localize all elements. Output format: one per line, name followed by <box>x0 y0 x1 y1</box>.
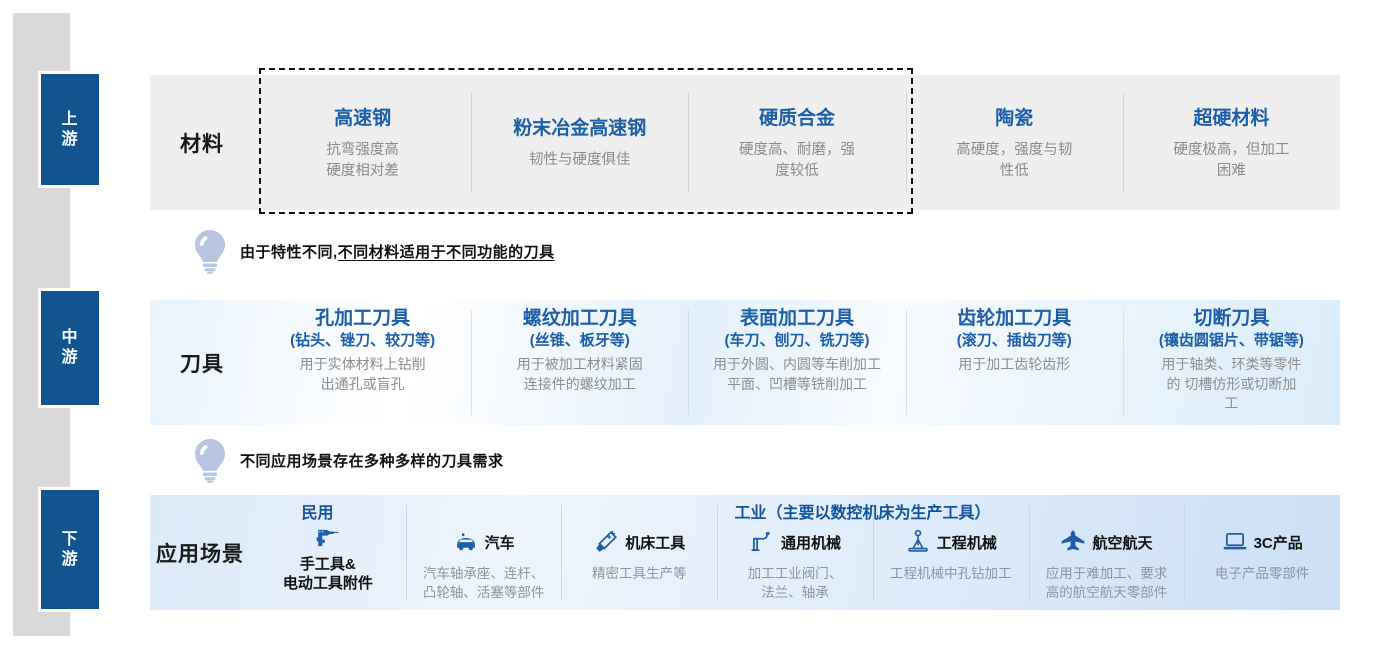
material-cell-0[interactable]: 高速钢抗弯强度高硬度相对差 <box>254 75 471 210</box>
application-name: 手工具&电动工具附件 <box>283 556 373 594</box>
material-description: 抗弯强度高硬度相对差 <box>326 140 399 182</box>
tool-description: 用于加工齿轮齿形 <box>958 355 1070 375</box>
tools-band: 刀具 孔加工刀具(钻头、锉刀、较刀等)用于实体材料上钻削出通孔或盲孔螺纹加工刀具… <box>150 300 1340 425</box>
application-cell-6[interactable]: 3C产品电子产品零部件 <box>1184 495 1340 610</box>
material-cell-4[interactable]: 超硬材料硬度极高，但加工困难 <box>1123 75 1340 210</box>
application-description: 加工工业阀门、法兰、轴承 <box>748 565 843 603</box>
excavator-icon <box>905 529 931 560</box>
tool-description: 用于实体材料上钻削出通孔或盲孔 <box>300 355 426 394</box>
applications-band: 应用场景 民用 工业（主要以数控机床为生产工具） 手工具&电动工具附件汽车汽车轴… <box>150 495 1340 610</box>
laptop-icon <box>1222 529 1248 560</box>
application-description: 汽车轴承座、连杆、凸轮轴、活塞等部件 <box>423 565 545 603</box>
material-cell-3[interactable]: 陶瓷高硬度，强度与韧性低 <box>906 75 1123 210</box>
application-name: 工程机械 <box>937 535 997 554</box>
car-icon <box>453 529 479 560</box>
tool-description: 用于外圆、内圆等车削加工平面、凹槽等铣削加工 <box>713 355 881 394</box>
tool-subtitle: (车刀、刨刀、铣刀等) <box>725 331 870 351</box>
note-row-applications: 不同应用场景存在多种多样的刀具需求 <box>190 437 504 483</box>
tool-title: 孔加工刀具 <box>315 308 410 331</box>
application-head: 工程机械 <box>905 529 997 560</box>
application-head: 机床工具 <box>593 529 685 560</box>
application-head: 手工具&电动工具附件 <box>283 525 373 594</box>
stage-chip-upstream-line2: 游 <box>61 130 78 150</box>
materials-columns: 高速钢抗弯强度高硬度相对差粉末冶金高速钢韧性与硬度俱佳硬质合金硬度高、耐磨，强度… <box>254 75 1340 210</box>
tool-subtitle: (镶齿圆锯片、带锯等) <box>1159 331 1304 351</box>
material-title: 硬质合金 <box>759 103 835 130</box>
tool-subtitle: (丝锥、板牙等) <box>530 331 630 351</box>
material-title: 陶瓷 <box>995 103 1033 130</box>
note-2-plain: 不同应用场景存在多种多样的刀具需求 <box>240 453 504 470</box>
tool-cell-3[interactable]: 齿轮加工刀具(滚刀、插齿刀等)用于加工齿轮齿形 <box>906 300 1123 425</box>
lightbulb-icon <box>190 437 230 483</box>
application-cell-0[interactable]: 手工具&电动工具附件 <box>250 495 406 610</box>
stage-chip-downstream-line2: 游 <box>61 550 78 570</box>
material-description: 高硬度，强度与韧性低 <box>956 140 1072 182</box>
materials-band: 材料 高速钢抗弯强度高硬度相对差粉末冶金高速钢韧性与硬度俱佳硬质合金硬度高、耐磨… <box>150 75 1340 210</box>
airplane-icon <box>1060 529 1086 560</box>
material-title: 高速钢 <box>334 103 391 130</box>
application-cell-5[interactable]: 航空航天应用于难加工、要求高的航空航天零部件 <box>1029 495 1185 610</box>
tool-cell-4[interactable]: 切断刀具(镶齿圆锯片、带锯等)用于轴类、环类等零件的 切槽仿形或切断加工 <box>1123 300 1340 425</box>
note-row-materials: 由于特性不同,不同材料适用于不同功能的刀具 <box>190 228 555 274</box>
stage-chip-midstream-line2: 游 <box>61 348 78 368</box>
application-description: 工程机械中孔钻加工 <box>890 565 1012 584</box>
tool-title: 表面加工刀具 <box>740 308 854 331</box>
application-head: 3C产品 <box>1222 529 1303 560</box>
tool-title: 切断刀具 <box>1193 308 1269 331</box>
tools-columns: 孔加工刀具(钻头、锉刀、较刀等)用于实体材料上钻削出通孔或盲孔螺纹加工刀具(丝锥… <box>254 300 1340 425</box>
application-description: 电子产品零部件 <box>1215 565 1310 584</box>
application-name: 3C产品 <box>1254 535 1303 554</box>
note-1-plain: 由于特性不同, <box>240 244 338 261</box>
tool-cell-0[interactable]: 孔加工刀具(钻头、锉刀、较刀等)用于实体材料上钻削出通孔或盲孔 <box>254 300 471 425</box>
stage-chip-upstream-line1: 上 <box>61 110 78 130</box>
stage-chip-midstream-line1: 中 <box>61 328 78 348</box>
applications-columns: 民用 工业（主要以数控机床为生产工具） 手工具&电动工具附件汽车汽车轴承座、连杆… <box>250 495 1340 610</box>
stage-chip-downstream[interactable]: 下 游 <box>38 487 102 612</box>
application-name: 通用机械 <box>781 535 841 554</box>
lightbulb-icon <box>190 228 230 274</box>
application-name: 机床工具 <box>625 535 685 554</box>
material-description: 硬度高、耐磨，强度较低 <box>739 140 855 182</box>
stage-chip-downstream-line1: 下 <box>61 530 78 550</box>
valve-icon <box>749 529 775 560</box>
material-title: 超硬材料 <box>1193 103 1269 130</box>
application-cell-1[interactable]: 汽车汽车轴承座、连杆、凸轮轴、活塞等部件 <box>406 495 562 610</box>
tool-cell-1[interactable]: 螺纹加工刀具(丝锥、板牙等)用于被加工材料紧固连接件的螺纹加工 <box>471 300 688 425</box>
note-text-applications: 不同应用场景存在多种多样的刀具需求 <box>240 450 504 471</box>
application-cell-2[interactable]: 机床工具精密工具生产等 <box>561 495 717 610</box>
material-cell-2[interactable]: 硬质合金硬度高、耐磨，强度较低 <box>688 75 905 210</box>
application-head: 汽车 <box>453 529 515 560</box>
note-text-materials: 由于特性不同,不同材料适用于不同功能的刀具 <box>240 241 555 262</box>
application-name: 航空航天 <box>1092 535 1152 554</box>
application-description: 应用于难加工、要求高的航空航天零部件 <box>1046 565 1168 603</box>
stage-chip-midstream[interactable]: 中 游 <box>38 288 102 408</box>
applications-row-label: 应用场景 <box>150 495 250 610</box>
materials-row-label: 材料 <box>150 75 254 210</box>
application-head: 航空航天 <box>1060 529 1152 560</box>
tool-subtitle: (滚刀、插齿刀等) <box>957 331 1072 351</box>
tool-subtitle: (钻头、锉刀、较刀等) <box>290 331 435 351</box>
machine-tool-icon <box>593 529 619 560</box>
tool-cell-2[interactable]: 表面加工刀具(车刀、刨刀、铣刀等)用于外圆、内圆等车削加工平面、凹槽等铣削加工 <box>688 300 905 425</box>
application-description: 精密工具生产等 <box>592 565 687 584</box>
drill-icon <box>315 525 341 556</box>
material-description: 硬度极高，但加工困难 <box>1173 140 1289 182</box>
tool-title: 齿轮加工刀具 <box>957 308 1071 331</box>
stage-chip-upstream[interactable]: 上 游 <box>38 71 102 188</box>
tools-row-label: 刀具 <box>150 300 254 425</box>
tool-description: 用于轴类、环类等零件的 切槽仿形或切断加工 <box>1161 355 1301 414</box>
material-description: 韧性与硬度俱佳 <box>529 150 631 171</box>
application-cell-3[interactable]: 通用机械加工工业阀门、法兰、轴承 <box>717 495 873 610</box>
material-title: 粉末冶金高速钢 <box>513 113 646 140</box>
note-1-underlined: 不同材料适用于不同功能的刀具 <box>338 244 555 261</box>
tool-title: 螺纹加工刀具 <box>523 308 637 331</box>
application-head: 通用机械 <box>749 529 841 560</box>
material-cell-1[interactable]: 粉末冶金高速钢韧性与硬度俱佳 <box>471 75 688 210</box>
application-cell-4[interactable]: 工程机械工程机械中孔钻加工 <box>873 495 1029 610</box>
application-name: 汽车 <box>485 535 515 554</box>
tool-description: 用于被加工材料紧固连接件的螺纹加工 <box>517 355 643 394</box>
